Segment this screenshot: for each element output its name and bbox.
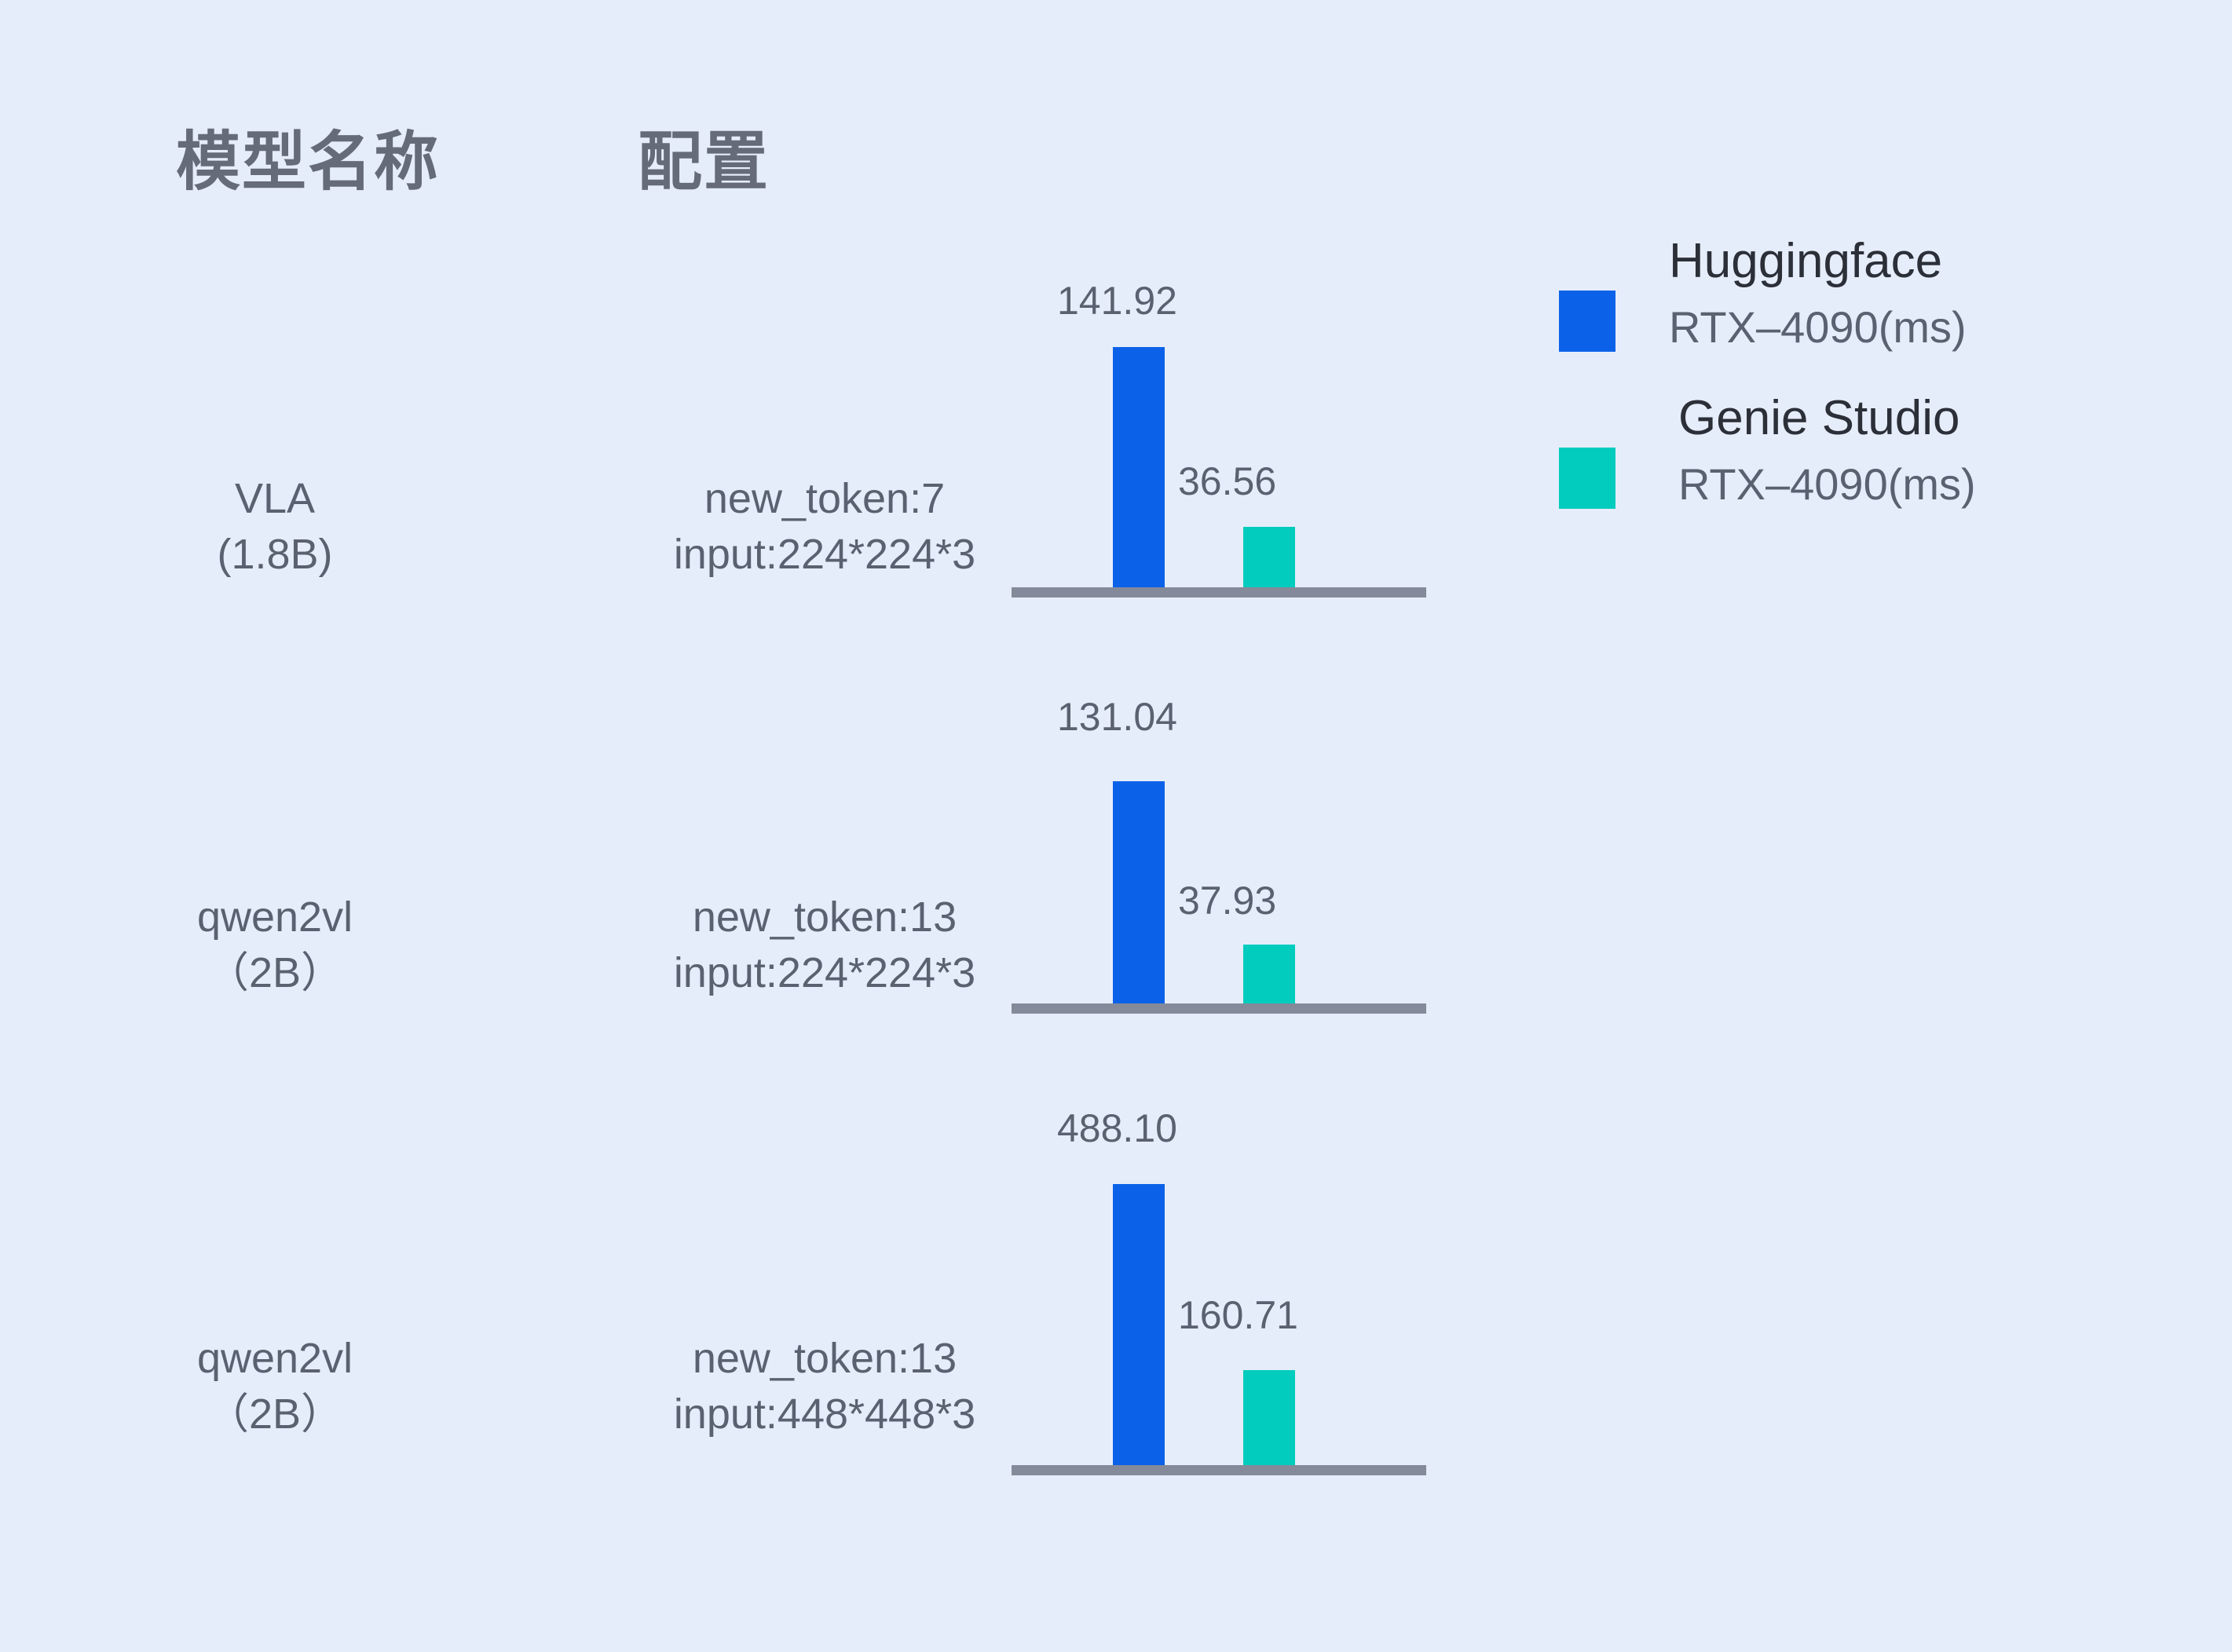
row-model-line1: VLA	[149, 471, 401, 527]
row-model-label: qwen2vl （2B）	[149, 1331, 401, 1443]
row-model-line2: （2B）	[149, 945, 401, 1001]
bar-value-huggingface: 488.10	[1057, 1109, 1177, 1148]
panel-baseline	[1012, 1465, 1426, 1475]
panel-baseline	[1012, 587, 1426, 598]
bar-genie-studio[interactable]	[1243, 527, 1295, 589]
bar-huggingface[interactable]	[1113, 1184, 1165, 1473]
bar-genie-studio[interactable]	[1243, 945, 1295, 1005]
legend-item-genie-studio[interactable]: Genie Studio RTX–4090(ms)	[1559, 393, 2109, 550]
row-config-line1: new_token:13	[471, 1331, 1178, 1387]
legend-item-subtitle: RTX–4090(ms)	[1669, 305, 1967, 351]
row-model-line2: (1.8B)	[149, 527, 401, 583]
row-config-line1: new_token:13	[471, 890, 1178, 945]
legend-swatch-blue-icon	[1559, 291, 1615, 352]
row-model-line2: （2B）	[149, 1387, 401, 1442]
bar-value-genie-studio: 36.56	[1178, 462, 1276, 501]
bar-value-huggingface: 131.04	[1057, 697, 1177, 736]
bar-value-genie-studio: 160.71	[1178, 1296, 1298, 1335]
row-config-label: new_token:13 input:224*224*3	[471, 890, 1178, 1002]
bar-huggingface[interactable]	[1113, 347, 1165, 589]
panel-baseline	[1012, 1003, 1426, 1014]
row-model-line1: qwen2vl	[149, 1331, 401, 1387]
column-header-config: 配置	[638, 130, 770, 195]
bar-genie-studio[interactable]	[1243, 1370, 1295, 1467]
column-header-model-name: 模型名称	[176, 130, 440, 195]
chart-canvas: 模型名称 配置 VLA (1.8B) new_token:7 input:224…	[0, 0, 2232, 1652]
row-config-label: new_token:7 input:224*224*3	[471, 471, 1178, 583]
legend-item-title: Genie Studio	[1678, 393, 1959, 444]
row-model-label: qwen2vl （2B）	[149, 890, 401, 1002]
legend-swatch-teal-icon	[1559, 448, 1615, 509]
legend-item-subtitle: RTX–4090(ms)	[1678, 462, 1976, 508]
row-model-line1: qwen2vl	[149, 890, 401, 945]
row-config-line1: new_token:7	[471, 471, 1178, 527]
bar-value-genie-studio: 37.93	[1178, 881, 1276, 920]
row-model-label: VLA (1.8B)	[149, 471, 401, 583]
row-config-label: new_token:13 input:448*448*3	[471, 1331, 1178, 1443]
bar-value-huggingface: 141.92	[1057, 281, 1177, 320]
row-config-line2: input:224*224*3	[471, 527, 1178, 583]
row-config-line2: input:448*448*3	[471, 1387, 1178, 1442]
legend: Huggingface RTX–4090(ms) Genie Studio RT…	[1559, 236, 2109, 550]
row-config-line2: input:224*224*3	[471, 945, 1178, 1001]
legend-item-huggingface[interactable]: Huggingface RTX–4090(ms)	[1559, 236, 2109, 393]
bar-huggingface[interactable]	[1113, 781, 1165, 1005]
legend-item-title: Huggingface	[1669, 236, 1942, 287]
